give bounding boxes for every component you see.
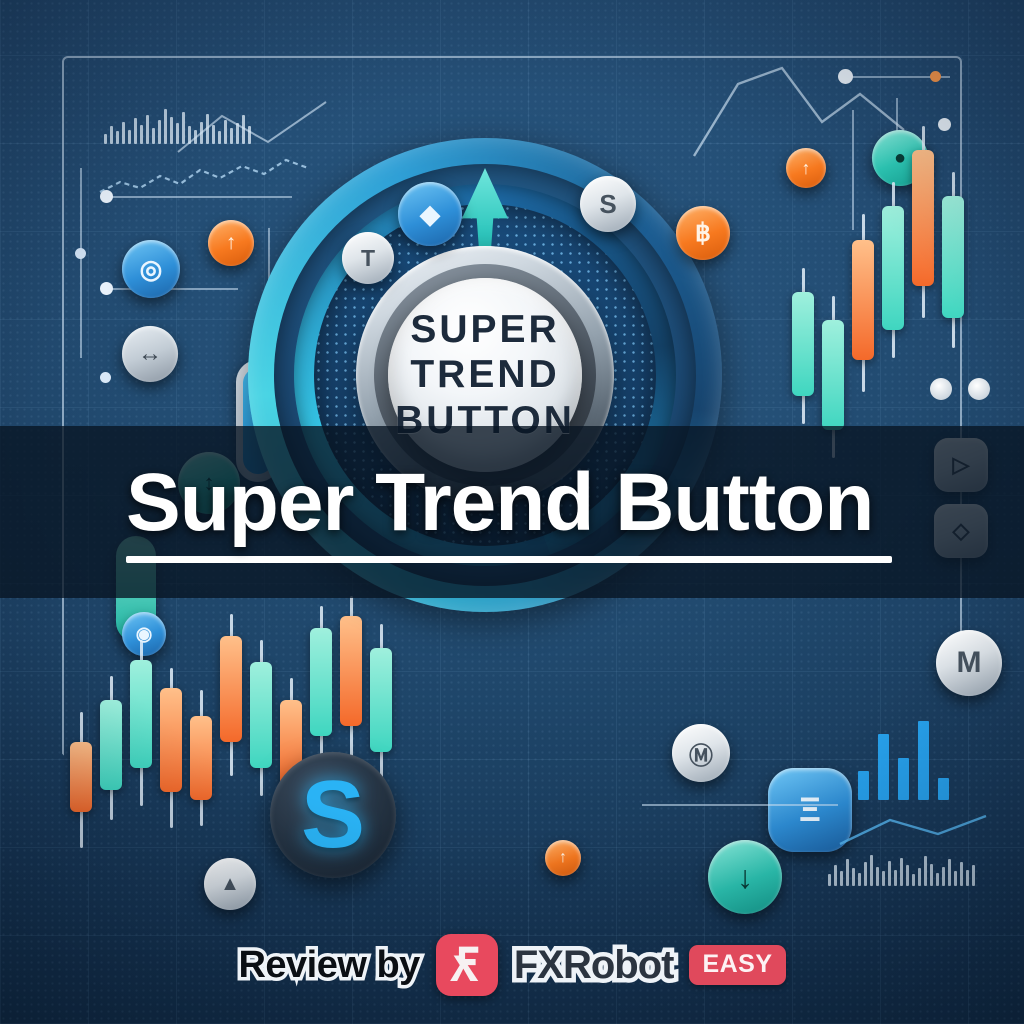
bar — [146, 115, 149, 144]
bar — [878, 734, 889, 800]
bar — [900, 858, 903, 887]
download-arrow-icon[interactable]: ↓ — [708, 840, 782, 914]
bar — [924, 856, 927, 886]
arrow-up-coin-icon[interactable]: ↑ — [786, 148, 826, 188]
brand-name: FXRobot — [514, 943, 674, 988]
node-dot — [930, 71, 941, 82]
bar — [918, 868, 921, 886]
bar — [828, 874, 831, 886]
candle-body — [160, 688, 182, 792]
candle-body — [370, 648, 392, 752]
bar — [116, 131, 119, 144]
candle-wick — [892, 182, 895, 358]
dollar-s-glyph: S — [301, 767, 365, 863]
candle-body — [70, 742, 92, 812]
eye-icon[interactable]: ◉ — [122, 612, 166, 656]
bar — [876, 867, 879, 887]
candle-wick — [260, 640, 263, 796]
bar — [882, 871, 885, 886]
bar — [898, 758, 909, 800]
page-title: Super Trend Button — [126, 462, 892, 544]
candle-wick — [952, 172, 955, 348]
bar — [140, 125, 143, 144]
candle-body — [942, 196, 964, 318]
candle-wick — [320, 606, 323, 770]
bar — [128, 130, 131, 144]
bar — [170, 117, 173, 144]
monero-coin-icon[interactable]: Ⓜ — [672, 724, 730, 782]
bar — [938, 778, 949, 800]
bar — [158, 120, 161, 144]
candle-body — [130, 660, 152, 768]
bar — [942, 867, 945, 887]
trace-vertical-left — [80, 168, 82, 358]
candle-body — [822, 320, 844, 430]
bar — [912, 874, 915, 886]
target-icon[interactable]: ◎ — [122, 240, 180, 298]
bar — [852, 868, 855, 886]
candle-body — [792, 292, 814, 396]
node-dot — [838, 69, 853, 84]
tether-coin-icon[interactable]: T — [342, 232, 394, 284]
candle-body — [882, 206, 904, 330]
bar — [918, 721, 929, 800]
bar — [122, 122, 125, 144]
mini-bar-chart-bottom-right — [828, 852, 975, 886]
candle-wick — [80, 712, 83, 848]
bar — [888, 861, 891, 887]
bar — [948, 859, 951, 886]
green-dot-coin-icon[interactable]: ● — [872, 130, 928, 186]
monero-coin-icon[interactable]: M — [936, 630, 1002, 696]
bar — [858, 771, 869, 800]
bar — [152, 128, 155, 144]
arrow-up-coin-icon[interactable]: ↑ — [545, 840, 581, 876]
bar — [110, 126, 113, 144]
candle-wick — [200, 690, 203, 826]
fxrobot-logo-icon[interactable] — [436, 934, 498, 996]
volume-bars-bottom-right — [858, 720, 949, 800]
candle-wick — [110, 676, 113, 820]
exchange-icon[interactable]: ↔ — [122, 326, 178, 382]
peak-line-bottom-right — [838, 812, 988, 848]
node-dot — [930, 378, 952, 400]
node-dot — [100, 190, 113, 203]
trace-vertical-right — [852, 110, 854, 230]
bar — [164, 109, 167, 144]
candle-body — [220, 636, 242, 742]
candle-wick — [140, 640, 143, 806]
bar — [960, 862, 963, 886]
candle-body — [250, 662, 272, 768]
bar — [846, 859, 849, 886]
candle-body — [310, 628, 332, 736]
node-dot — [938, 118, 951, 131]
ethereum-coin-icon[interactable]: ◆ — [398, 182, 462, 246]
bar — [894, 870, 897, 887]
candle-wick — [380, 624, 383, 788]
bar — [870, 855, 873, 887]
node-dot — [100, 282, 113, 295]
bar — [864, 862, 867, 886]
node-dot — [968, 378, 990, 400]
easy-badge: EASY — [689, 945, 785, 985]
bitcoin-coin-icon[interactable]: ฿ — [676, 206, 730, 260]
candle-body — [340, 616, 362, 726]
dollar-s-medallion-icon[interactable]: S — [270, 752, 396, 878]
bar — [858, 873, 861, 887]
banner-canvas: ◎ ↔ ↑ ↕ ◉ ↑ ● ▷ ◇ M Ⓜ Ξ ↓ ↑ ▲ S — [0, 0, 1024, 1024]
button-line-1: SUPER — [410, 309, 559, 350]
button-line-2: TREND — [410, 354, 559, 395]
bar — [134, 118, 137, 144]
stellar-coin-icon[interactable]: S — [580, 176, 636, 232]
candle-body — [852, 240, 874, 360]
bar — [936, 873, 939, 887]
bar — [104, 134, 107, 144]
candle-wick — [230, 614, 233, 776]
bar — [930, 864, 933, 887]
bar — [834, 865, 837, 886]
bar — [954, 871, 957, 886]
triangle-icon[interactable]: ▲ — [204, 858, 256, 910]
footer-branding: Review by FXRobot EASY — [0, 928, 1024, 1002]
candle-wick — [802, 268, 805, 424]
candle-wick — [862, 214, 865, 392]
bar — [906, 865, 909, 886]
bar — [966, 870, 969, 887]
candle-wick — [170, 668, 173, 828]
candle-wick — [350, 596, 353, 762]
candle-body — [100, 700, 122, 790]
candle-body — [190, 716, 212, 800]
review-by-label: Review by — [238, 944, 419, 987]
trace-bottom-right — [642, 804, 838, 806]
title-overlay-band: Super Trend Button — [0, 426, 1024, 598]
node-dot — [100, 372, 111, 383]
bar — [840, 871, 843, 886]
node-dot — [75, 248, 86, 259]
title-underline — [126, 556, 892, 563]
bar — [972, 865, 975, 886]
